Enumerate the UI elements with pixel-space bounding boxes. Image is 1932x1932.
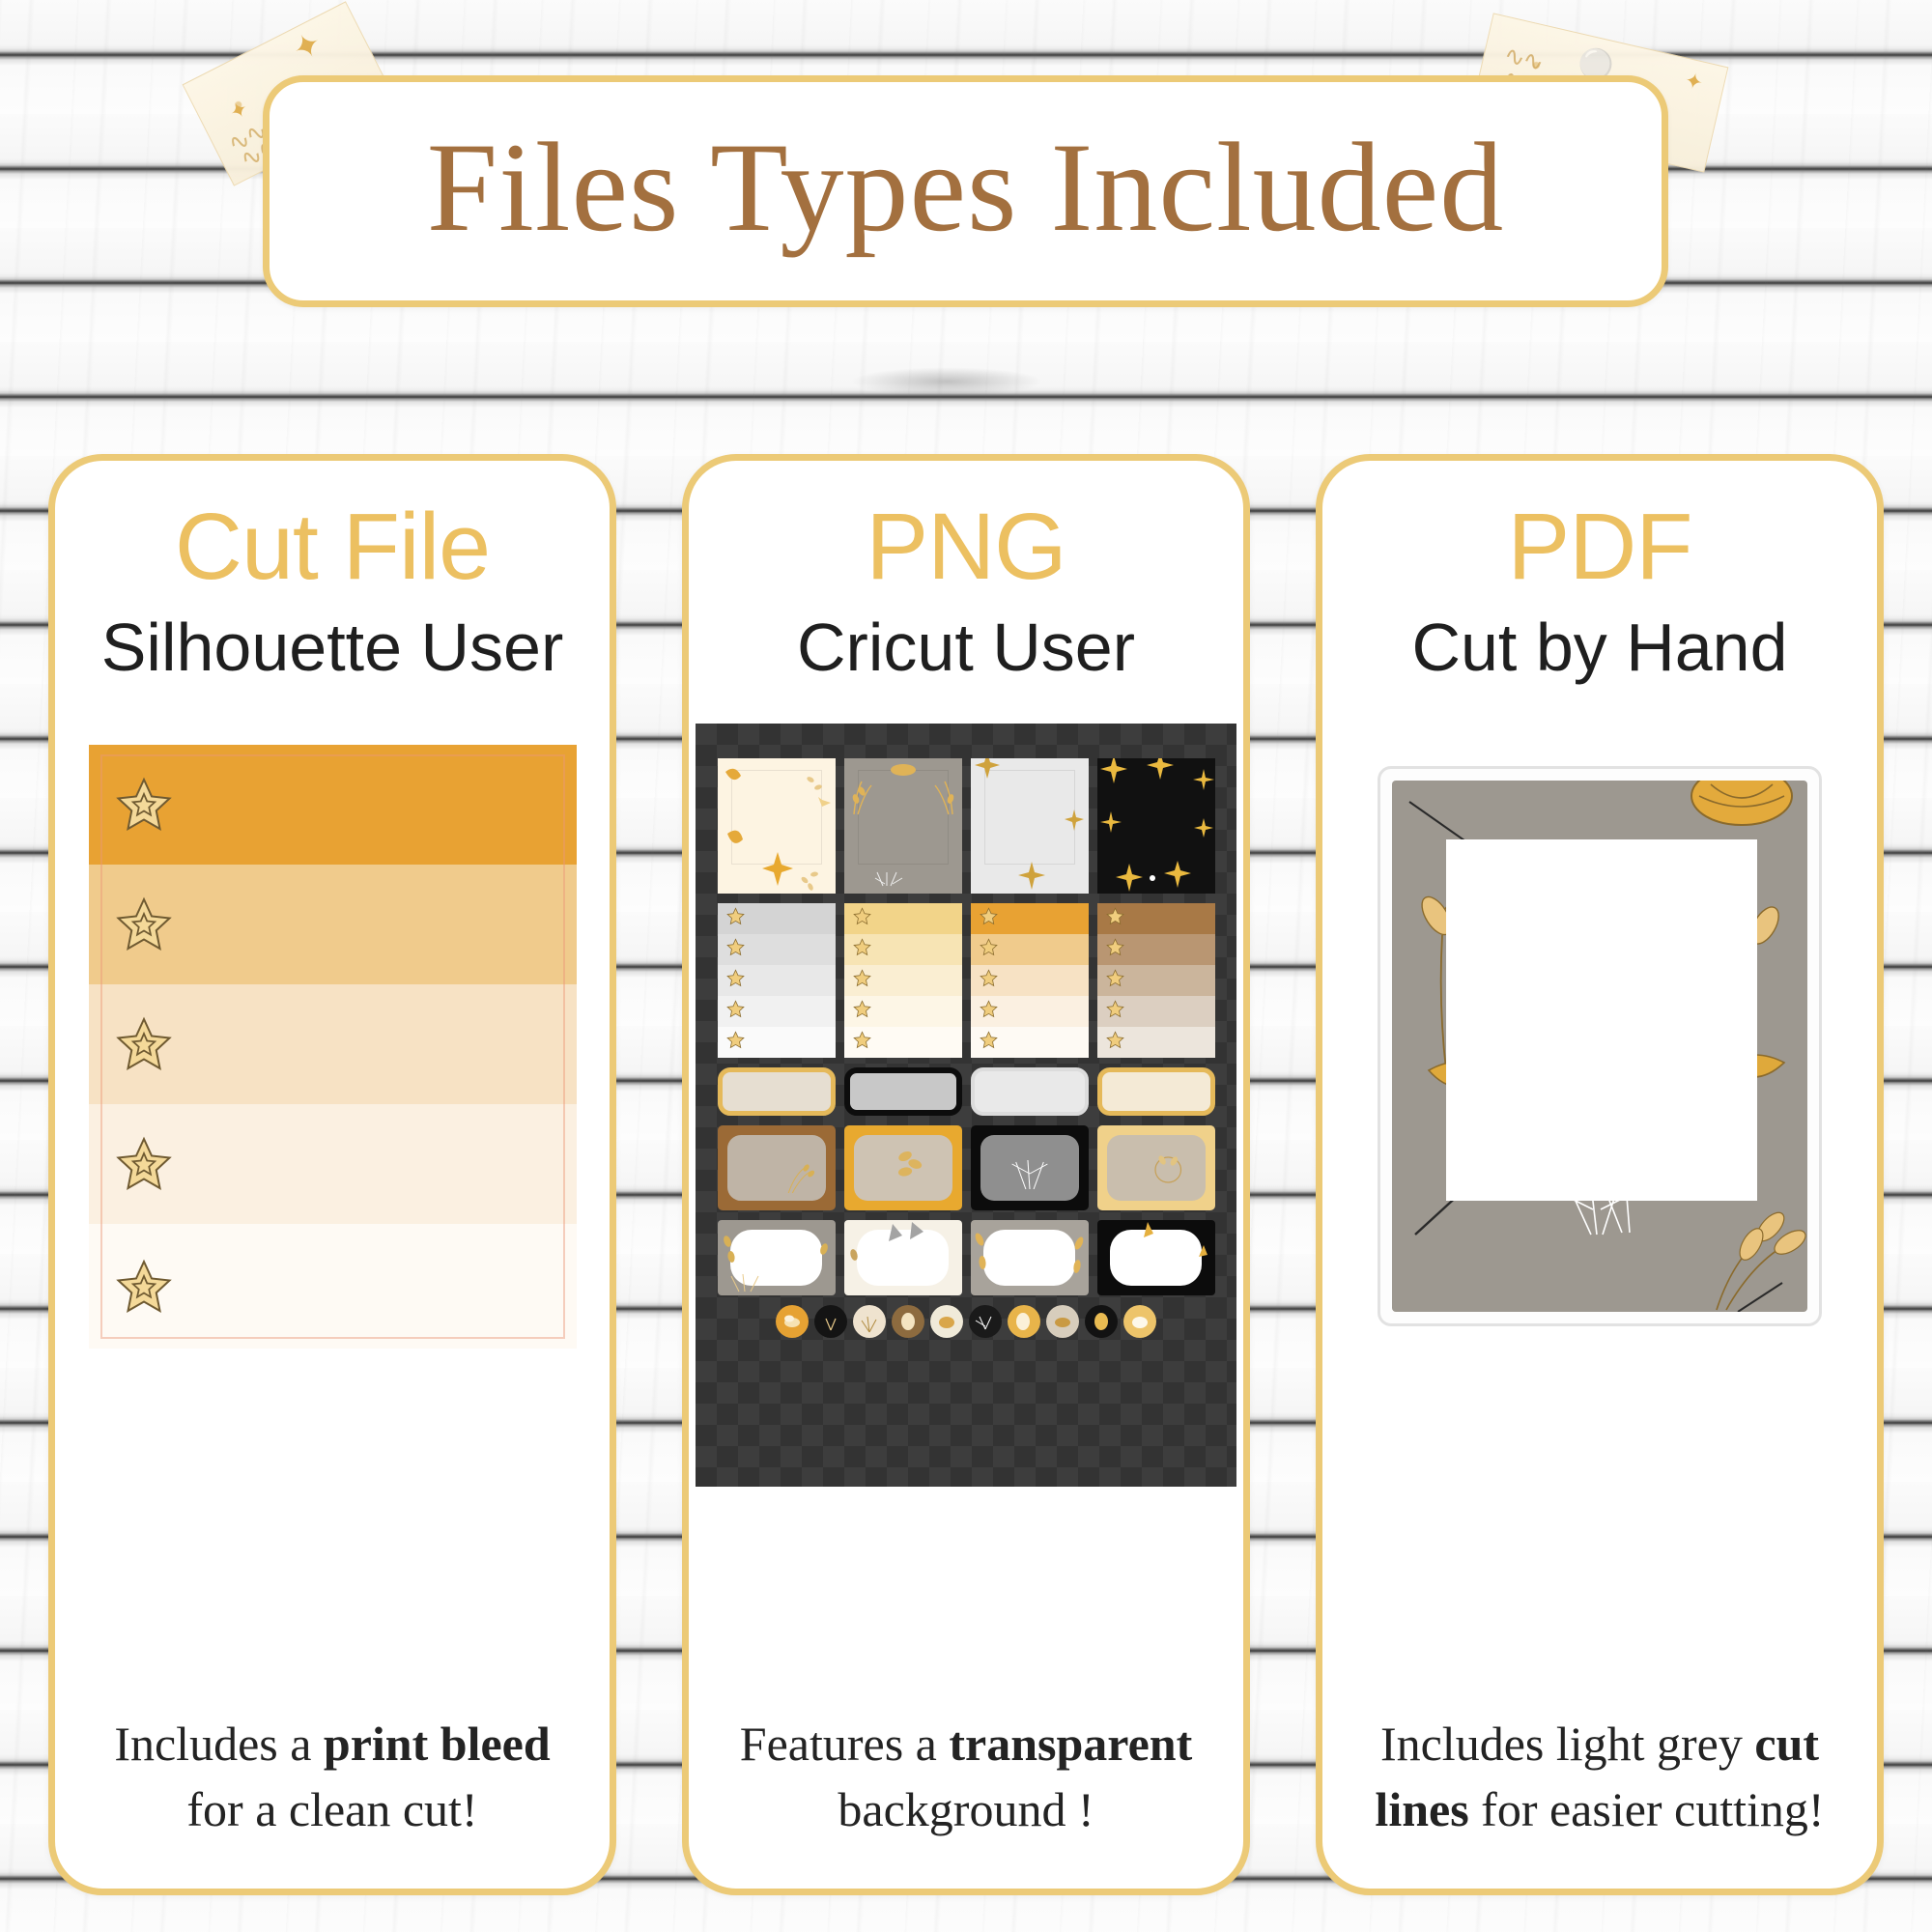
sticker-dot: [1046, 1305, 1079, 1338]
png-row-label-cards: [709, 1220, 1223, 1295]
star-icon: [980, 907, 998, 930]
star-icon: [853, 938, 871, 961]
pdf-photo-opening: [1446, 839, 1758, 1201]
star-icon: [1106, 938, 1124, 961]
star-icon: [1106, 1031, 1124, 1054]
rounded-frame: [971, 1125, 1089, 1210]
card-pdf[interactable]: PDF Cut by Hand: [1316, 454, 1884, 1895]
star-icon: [726, 907, 745, 930]
polaroid-frame: [718, 758, 836, 894]
star-icon: [114, 1258, 174, 1316]
polaroid-frame: [971, 758, 1089, 894]
star-icon: [1106, 907, 1124, 930]
sticker-dot: [1123, 1305, 1156, 1338]
swatch-card: [718, 903, 836, 1058]
color-band: [89, 1224, 577, 1349]
card-footer-cut-file: Includes a print bleed for a clean cut!: [80, 1712, 584, 1860]
star-icon: [114, 1135, 174, 1193]
cut-file-preview: [89, 745, 577, 1349]
star-icon: [114, 1015, 174, 1073]
sticker-dot: [776, 1305, 809, 1338]
swatch-card: [844, 903, 962, 1058]
rounded-frame: [844, 1125, 962, 1210]
swatch-card: [1097, 903, 1215, 1058]
star-icon: [853, 969, 871, 992]
sticker-dot: [892, 1305, 924, 1338]
star-icon: [726, 1000, 745, 1023]
sticker-dot: [1008, 1305, 1040, 1338]
file-type-cards: Cut File Silhouette User: [0, 454, 1932, 1895]
card-footer-png: Features a transparent background !: [714, 1712, 1218, 1860]
sparkle-icon: ✦: [288, 26, 327, 68]
polaroid-frame: [844, 758, 962, 894]
color-band: [89, 1104, 577, 1224]
swatch-card: [971, 903, 1089, 1058]
star-icon: [980, 1031, 998, 1054]
star-icon: [1106, 969, 1124, 992]
pdf-cutline-preview: [1378, 766, 1822, 1326]
footer-bold: transparent: [949, 1717, 1192, 1771]
page-title: Files Types Included: [427, 124, 1505, 251]
sticker-dot: [1085, 1305, 1118, 1338]
sticker-dot: [814, 1305, 847, 1338]
pdf-photo-frame: [1392, 781, 1807, 1312]
pill-label: [844, 1067, 962, 1116]
sticker-dot: [853, 1305, 886, 1338]
card-png[interactable]: PNG Cricut User: [682, 454, 1250, 1895]
pill-label: [718, 1067, 836, 1116]
footer-prefix: Includes a: [114, 1717, 324, 1771]
png-row-pills: [709, 1067, 1223, 1116]
footer-prefix: Features a: [740, 1717, 950, 1771]
star-icon: [980, 938, 998, 961]
card-subtitle-pdf: Cut by Hand: [1411, 610, 1787, 685]
png-row-dots: [709, 1305, 1223, 1338]
footer-suffix: for easier cutting!: [1469, 1782, 1825, 1836]
star-icon: [853, 1000, 871, 1023]
color-band: [89, 984, 577, 1104]
card-footer-pdf: Includes light grey cut lines for easier…: [1348, 1712, 1852, 1860]
star-icon: [726, 938, 745, 961]
card-subtitle-png: Cricut User: [797, 610, 1135, 685]
card-subtitle-cut-file: Silhouette User: [101, 610, 564, 685]
png-transparent-preview: [696, 724, 1236, 1487]
star-icon: [853, 907, 871, 930]
color-band: [89, 745, 577, 865]
rounded-frame: [718, 1125, 836, 1210]
star-icon: [114, 895, 174, 953]
footer-bold: print bleed: [324, 1717, 551, 1771]
footer-suffix: background !: [838, 1782, 1094, 1836]
polaroid-frame: [1097, 758, 1215, 894]
star-icon: [853, 1031, 871, 1054]
png-row-rounded-frames: [709, 1125, 1223, 1210]
png-row-swatch-cards: [709, 903, 1223, 1058]
label-card: [971, 1220, 1089, 1295]
footer-prefix: Includes light grey: [1380, 1717, 1754, 1771]
star-icon: [980, 969, 998, 992]
rounded-frame: [1097, 1125, 1215, 1210]
wood-knot: [850, 367, 1043, 396]
star-icon: [114, 776, 174, 834]
sticker-dot: [969, 1305, 1002, 1338]
card-heading-pdf: PDF: [1508, 497, 1692, 596]
sticker-dot: [930, 1305, 963, 1338]
card-cut-file[interactable]: Cut File Silhouette User: [48, 454, 616, 1895]
star-icon: [726, 1031, 745, 1054]
card-heading-cut-file: Cut File: [175, 497, 490, 596]
pill-label: [1097, 1067, 1215, 1116]
star-icon: [1106, 1000, 1124, 1023]
card-heading-png: PNG: [866, 497, 1065, 596]
png-row-polaroids: [709, 758, 1223, 894]
label-card: [718, 1220, 836, 1295]
sparkle-icon: ✦: [1683, 71, 1705, 96]
color-band: [89, 865, 577, 984]
page-title-card: Files Types Included: [263, 75, 1668, 307]
label-card: [1097, 1220, 1215, 1295]
star-icon: [726, 969, 745, 992]
label-card: [844, 1220, 962, 1295]
pill-label: [971, 1067, 1089, 1116]
star-icon: [980, 1000, 998, 1023]
footer-suffix: for a clean cut!: [186, 1782, 477, 1836]
